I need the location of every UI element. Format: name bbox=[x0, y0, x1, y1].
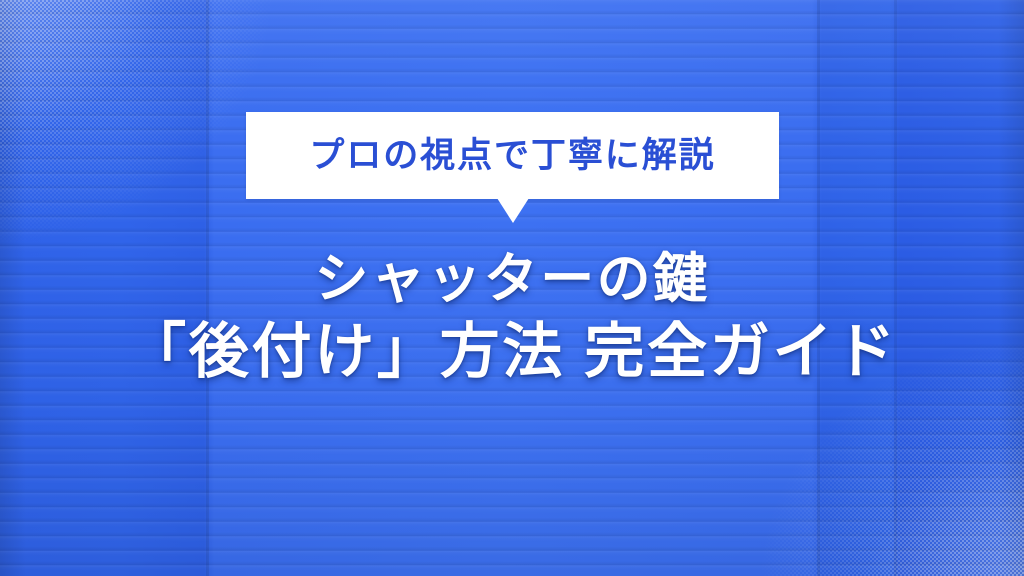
headline-line-1: シャッターの鍵 bbox=[0, 244, 1024, 314]
callout-badge-label: プロの視点で丁寧に解説 bbox=[309, 138, 715, 173]
headline-block: シャッターの鍵 「後付け」方法 完全ガイド bbox=[0, 244, 1024, 390]
callout-badge: プロの視点で丁寧に解説 bbox=[246, 112, 779, 199]
headline-line-2: 「後付け」方法 完全ガイド bbox=[0, 314, 1024, 390]
thumbnail-content: プロの視点で丁寧に解説 シャッターの鍵 「後付け」方法 完全ガイド bbox=[0, 0, 1024, 576]
thumbnail-canvas: プロの視点で丁寧に解説 シャッターの鍵 「後付け」方法 完全ガイド bbox=[0, 0, 1024, 576]
callout-badge-tail-icon bbox=[497, 198, 529, 223]
